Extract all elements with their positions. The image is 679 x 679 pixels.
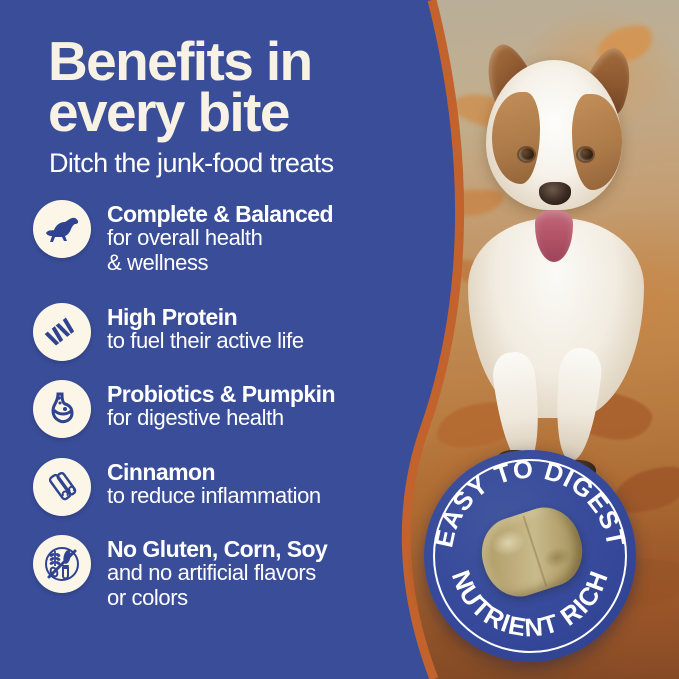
headline-line-2: every bite <box>48 87 408 138</box>
benefit-title: Complete & Balanced <box>107 202 333 226</box>
badge-top-text: EASY TO DIGEST <box>430 455 629 549</box>
benefit-text: Cinnamon to reduce inflammation <box>107 458 321 509</box>
benefit-desc-line: or colors <box>107 586 327 610</box>
benefit-item-cinnamon: Cinnamon to reduce inflammation <box>33 458 321 516</box>
benefit-title: No Gluten, Corn, Soy <box>107 537 327 561</box>
benefit-text: No Gluten, Corn, Soy and no artificial f… <box>107 535 327 610</box>
benefit-desc-line: for overall health <box>107 226 333 250</box>
status-badge: EASY TO DIGEST NUTRIENT RICH <box>424 450 636 662</box>
benefit-text: High Protein to fuel their active life <box>107 303 304 354</box>
stomach-icon <box>33 380 91 438</box>
subtitle: Ditch the junk-food treats <box>49 148 419 179</box>
benefit-title: Cinnamon <box>107 460 321 484</box>
benefit-item-high-protein: High Protein to fuel their active life <box>33 303 304 361</box>
badge-bottom-text: NUTRIENT RICH <box>446 567 614 643</box>
benefit-item-complete-balanced: Complete & Balanced for overall health &… <box>33 200 333 275</box>
protein-chain-icon <box>33 303 91 361</box>
svg-text:NUTRIENT RICH: NUTRIENT RICH <box>446 567 614 643</box>
svg-text:EASY TO DIGEST: EASY TO DIGEST <box>430 455 629 549</box>
benefit-text: Probiotics & Pumpkin for digestive healt… <box>107 380 335 431</box>
benefit-desc-line: to reduce inflammation <box>107 484 321 508</box>
cinnamon-sticks-icon <box>33 458 91 516</box>
no-grains-icon <box>33 535 91 593</box>
benefit-desc-line: to fuel their active life <box>107 329 304 353</box>
benefit-item-probiotics-pumpkin: Probiotics & Pumpkin for digestive healt… <box>33 380 335 438</box>
badge-text: EASY TO DIGEST NUTRIENT RICH <box>424 450 636 662</box>
benefit-text: Complete & Balanced for overall health &… <box>107 200 333 275</box>
leaping-dog-icon <box>33 200 91 258</box>
benefit-desc-line: & wellness <box>107 251 333 275</box>
benefit-title: High Protein <box>107 305 304 329</box>
product-benefits-banner: Benefits in every bite Ditch the junk-fo… <box>0 0 679 679</box>
page-title: Benefits in every bite <box>48 36 408 138</box>
benefit-title: Probiotics & Pumpkin <box>107 382 335 406</box>
benefit-item-no-gluten-corn-soy: No Gluten, Corn, Soy and no artificial f… <box>33 535 327 610</box>
benefit-desc-line: and no artificial flavors <box>107 561 327 585</box>
benefit-desc-line: for digestive health <box>107 406 335 430</box>
